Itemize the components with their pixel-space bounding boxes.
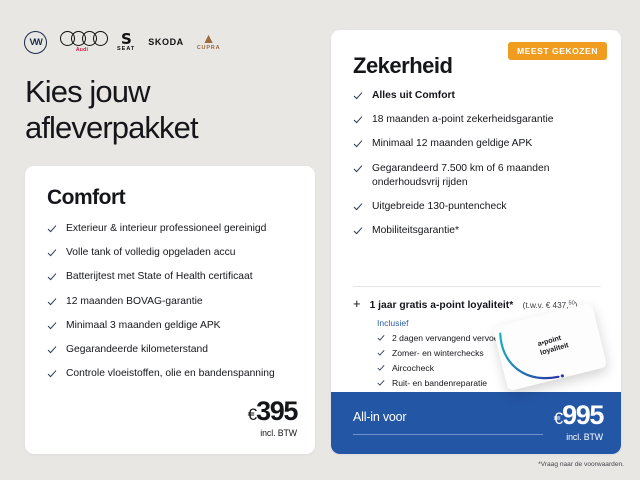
cupra-tribal-icon: ▲	[202, 33, 216, 45]
vw-logo-mark: VW	[29, 38, 41, 47]
skoda-wordmark: SKODA	[148, 37, 184, 47]
feature-label: Controle vloeistoffen, olie en bandenspa…	[66, 367, 275, 381]
list-item: Volle tank of volledig opgeladen accu	[47, 246, 299, 260]
list-item: Ruit- en bandenreparatie	[377, 378, 501, 388]
price-amount: 995	[562, 400, 603, 431]
feature-label: Exterieur & interieur professioneel gere…	[66, 222, 266, 236]
audi-logo: Audi	[60, 31, 104, 53]
comfort-package-card[interactable]: Comfort Exterieur & interieur profession…	[25, 166, 315, 454]
check-icon	[377, 364, 385, 372]
list-item: Batterijtest met State of Health certifi…	[47, 270, 299, 284]
check-icon	[47, 345, 57, 355]
feature-label: Batterijtest met State of Health certifi…	[66, 270, 253, 284]
loyalty-label: 1 jaar gratis a-point loyaliteit*	[370, 300, 514, 311]
list-item: Minimaal 12 maanden geldige APK	[353, 137, 605, 151]
inclusief-block: Inclusief 2 dagen vervangend vervoer Zom…	[377, 318, 501, 393]
inclusief-heading: Inclusief	[377, 318, 501, 328]
page-title: Kies jouw afleverpakket	[25, 74, 290, 146]
comfort-price: € 395	[248, 396, 297, 427]
feature-label: 12 maanden BOVAG-garantie	[66, 295, 203, 309]
audi-rings-icon	[60, 31, 104, 46]
list-item: Uitgebreide 130-puntencheck	[353, 200, 605, 214]
inclusief-label: Ruit- en bandenreparatie	[392, 378, 487, 388]
allin-label: All-in voor	[353, 410, 406, 424]
feature-label: Volle tank of volledig opgeladen accu	[66, 246, 235, 260]
list-item: Controle vloeistoffen, olie en bandenspa…	[47, 367, 299, 381]
comfort-price-block: € 395 incl. BTW	[248, 396, 297, 438]
plus-icon: +	[353, 297, 361, 310]
feature-label: Gegarandeerd 7.500 km of 6 maanden onder…	[372, 162, 604, 190]
check-icon	[47, 321, 57, 331]
inclusief-list: 2 dagen vervangend vervoer Zomer- en win…	[377, 333, 501, 388]
skoda-logo: SKODA	[148, 37, 184, 47]
brand-logo-bar: VW Audi S SEAT SKODA ▲	[24, 28, 220, 56]
feature-label: Minimaal 3 maanden geldige APK	[66, 319, 221, 333]
feature-label: Alles uit Comfort	[372, 89, 455, 103]
feature-label: 18 maanden a-point zekerheidsgarantie	[372, 113, 553, 127]
audi-ring-4	[93, 31, 108, 46]
check-icon	[353, 115, 363, 125]
list-item: 18 maanden a-point zekerheidsgarantie	[353, 113, 605, 127]
feature-label: Mobiliteitsgarantie*	[372, 224, 459, 238]
list-item: Gegarandeerd 7.500 km of 6 maanden onder…	[353, 162, 605, 190]
check-icon	[353, 91, 363, 101]
check-icon	[47, 297, 57, 307]
list-item: Zomer- en winterchecks	[377, 348, 501, 358]
zekerheid-price: € 995	[554, 400, 603, 431]
check-icon	[47, 369, 57, 379]
price-underline	[353, 434, 543, 435]
section-divider	[353, 286, 601, 287]
list-item: Alles uit Comfort	[353, 89, 605, 103]
feature-label: Minimaal 12 maanden geldige APK	[372, 137, 532, 151]
footnote: *Vraag naar de voorwaarden.	[538, 461, 624, 468]
audi-wordmark: Audi	[76, 47, 88, 53]
list-item: Minimaal 3 maanden geldige APK	[47, 319, 299, 333]
price-amount: 395	[256, 396, 297, 427]
list-item: Aircocheck	[377, 363, 501, 373]
check-icon	[377, 379, 385, 387]
zekerheid-package-card[interactable]: MEEST GEKOZEN Zekerheid Alles uit Comfor…	[331, 30, 621, 454]
check-icon	[353, 139, 363, 149]
currency-symbol: €	[248, 405, 256, 425]
seat-s-icon: S	[121, 32, 131, 46]
vw-roundel-icon: VW	[24, 31, 47, 54]
comfort-title: Comfort	[47, 186, 125, 210]
list-item: Exterieur & interieur professioneel gere…	[47, 222, 299, 236]
inclusief-label: 2 dagen vervangend vervoer	[392, 333, 501, 343]
zekerheid-price-block: € 995 incl. BTW	[554, 400, 603, 442]
check-icon	[377, 349, 385, 357]
check-icon	[353, 202, 363, 212]
check-icon	[47, 224, 57, 234]
zekerheid-price-bar: All-in voor € 995 incl. BTW	[331, 392, 621, 454]
loyalty-value-prefix: (t.w.v. € 437,	[523, 301, 569, 310]
cupra-logo: ▲ CUPRA	[197, 33, 221, 51]
list-item: Mobiliteitsgarantie*	[353, 224, 605, 238]
list-item: 2 dagen vervangend vervoer	[377, 333, 501, 343]
delivery-package-page: VW Audi S SEAT SKODA ▲	[0, 0, 640, 480]
check-icon	[47, 272, 57, 282]
feature-label: Uitgebreide 130-puntencheck	[372, 200, 507, 214]
seat-logo: S SEAT	[117, 32, 135, 52]
list-item: Gegarandeerde kilometerstand	[47, 343, 299, 357]
check-icon	[377, 334, 385, 342]
seat-wordmark: SEAT	[117, 46, 135, 52]
inclusief-label: Zomer- en winterchecks	[392, 348, 484, 358]
comfort-feature-list: Exterieur & interieur professioneel gere…	[47, 222, 299, 391]
zekerheid-title: Zekerheid	[353, 53, 452, 79]
zekerheid-feature-list: Alles uit Comfort 18 maanden a-point zek…	[353, 89, 605, 248]
list-item: 12 maanden BOVAG-garantie	[47, 295, 299, 309]
left-column: VW Audi S SEAT SKODA ▲	[0, 0, 320, 480]
feature-label: Gegarandeerde kilometerstand	[66, 343, 208, 357]
inclusief-label: Aircocheck	[392, 363, 434, 373]
status-badge: MEEST GEKOZEN	[508, 42, 607, 60]
check-icon	[353, 226, 363, 236]
check-icon	[353, 164, 363, 174]
cupra-wordmark: CUPRA	[197, 45, 221, 51]
comfort-vat-note: incl. BTW	[248, 428, 297, 438]
volkswagen-logo: VW	[24, 31, 47, 54]
currency-symbol: €	[554, 409, 562, 429]
check-icon	[47, 248, 57, 258]
zekerheid-vat-note: incl. BTW	[554, 432, 603, 442]
